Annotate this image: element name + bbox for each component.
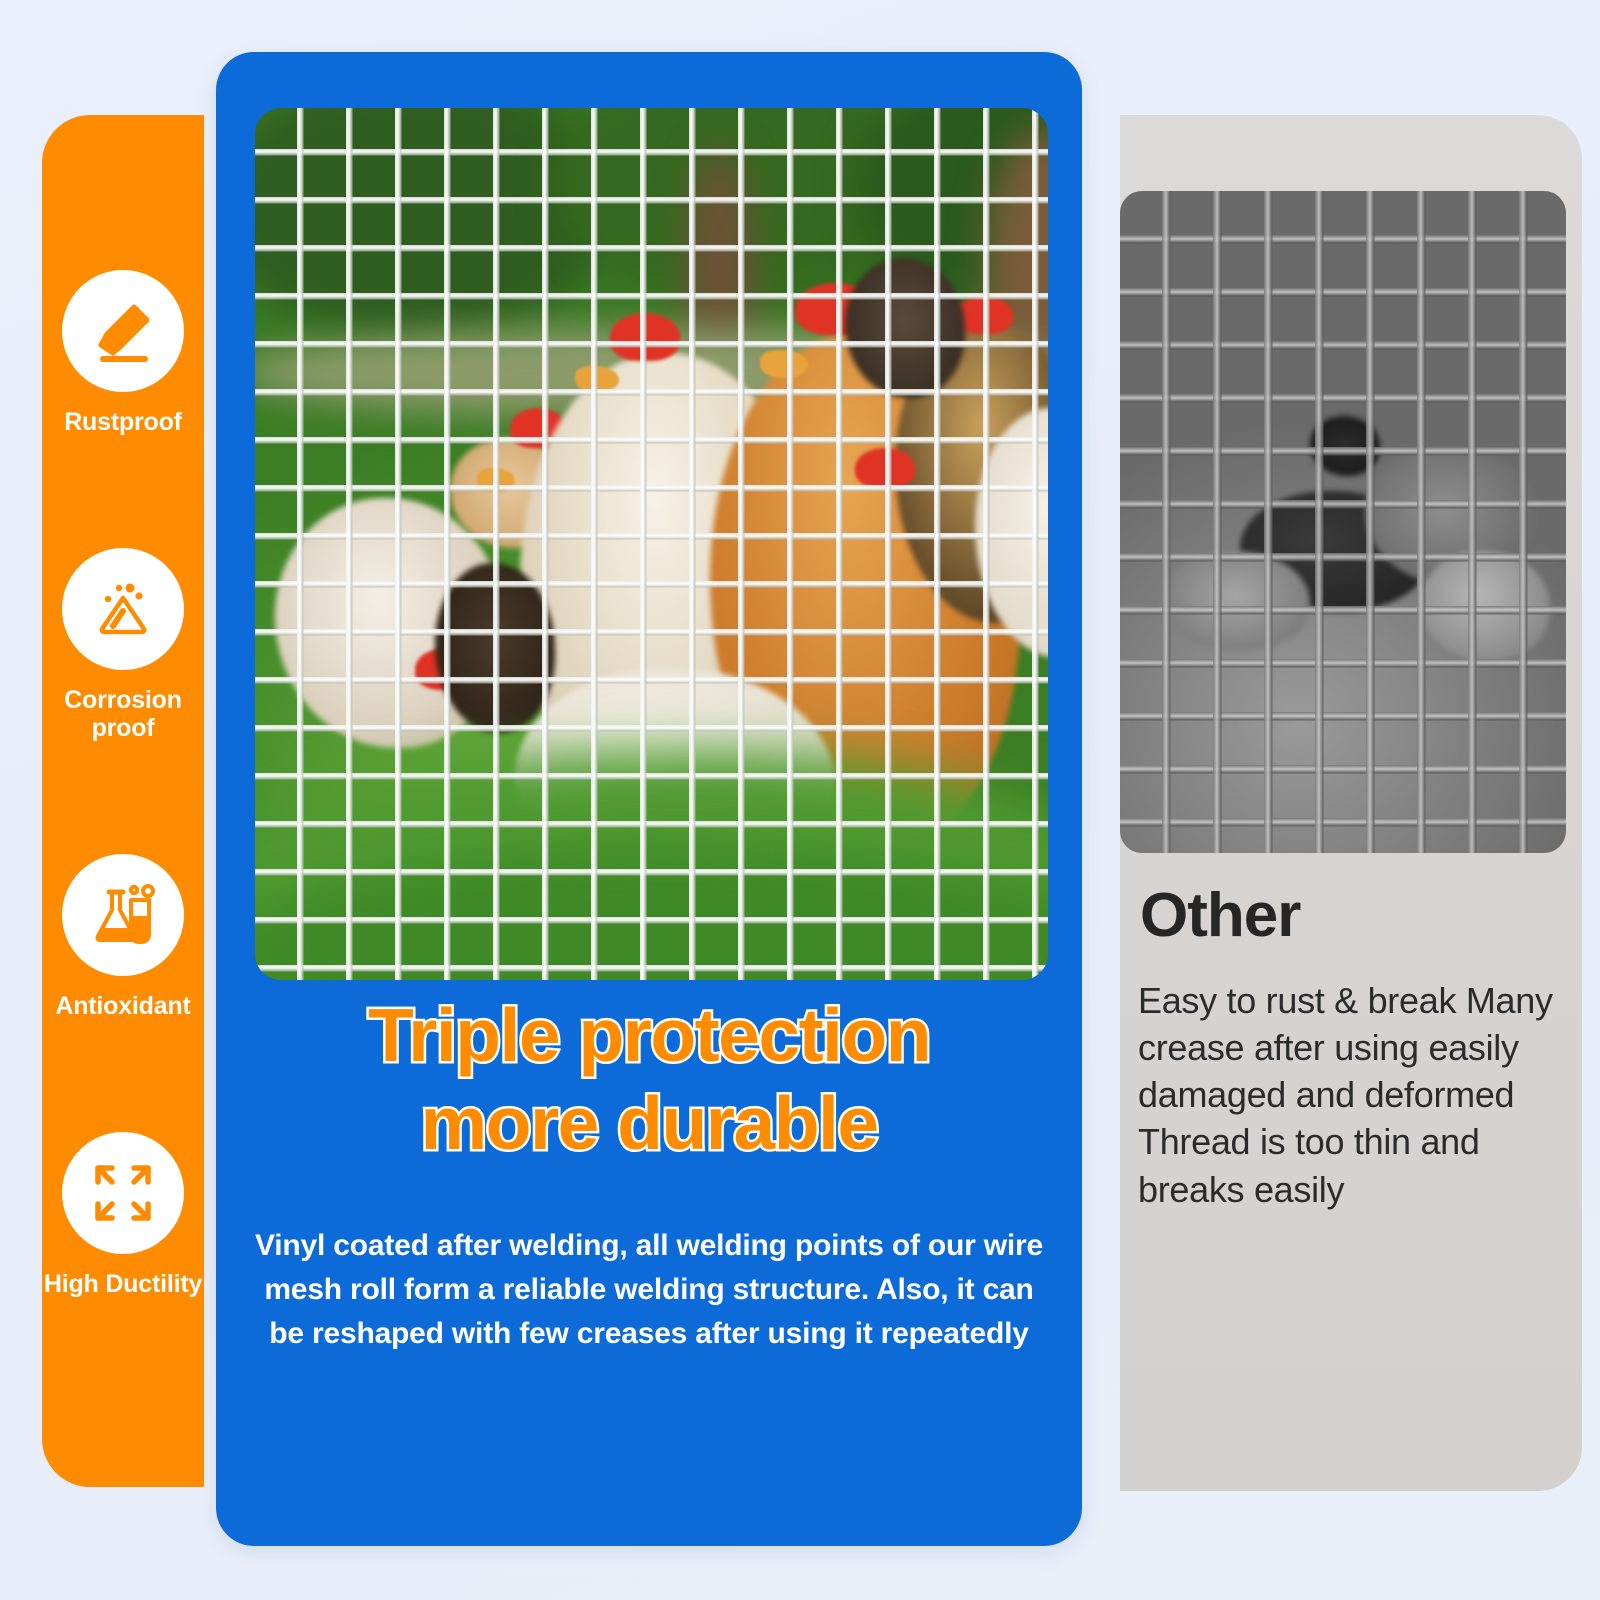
feature-label: Rustproof (64, 408, 182, 436)
marker-pen-icon (62, 270, 184, 392)
feature-item-corrosion-proof: Corrosion proof (42, 548, 204, 742)
headline-line-1: Triple protection (368, 993, 930, 1077)
headline-line-2: more durable (238, 1086, 1060, 1161)
corrosion-powder-icon (62, 548, 184, 670)
mesh-overlay (255, 108, 1048, 980)
feature-label: Corrosion proof (43, 686, 203, 742)
other-product-photo (1120, 191, 1566, 853)
other-comparison-panel: Other Easy to rust & break Many crease a… (1120, 115, 1582, 1491)
feature-item-rustproof: Rustproof (42, 270, 204, 436)
four-way-arrows-icon (62, 1132, 184, 1254)
page-title: Triple protection more durable (216, 998, 1082, 1161)
main-product-card: Triple protection more durable Vinyl coa… (216, 52, 1082, 1546)
mesh-overlay (1120, 191, 1566, 853)
main-body-text: Vinyl coated after welding, all welding … (246, 1224, 1052, 1356)
feature-label: High Ductility (44, 1270, 202, 1298)
features-sidebar: Rustproof Corrosion proof (42, 115, 204, 1487)
other-title: Other (1140, 880, 1300, 951)
feature-item-antioxidant: Antioxidant (42, 854, 204, 1020)
feature-label: Antioxidant (55, 992, 190, 1020)
flask-test-tube-icon (62, 854, 184, 976)
other-body-text: Easy to rust & break Many crease after u… (1138, 977, 1558, 1213)
main-product-photo (255, 108, 1048, 980)
feature-item-high-ductility: High Ductility (42, 1132, 204, 1298)
